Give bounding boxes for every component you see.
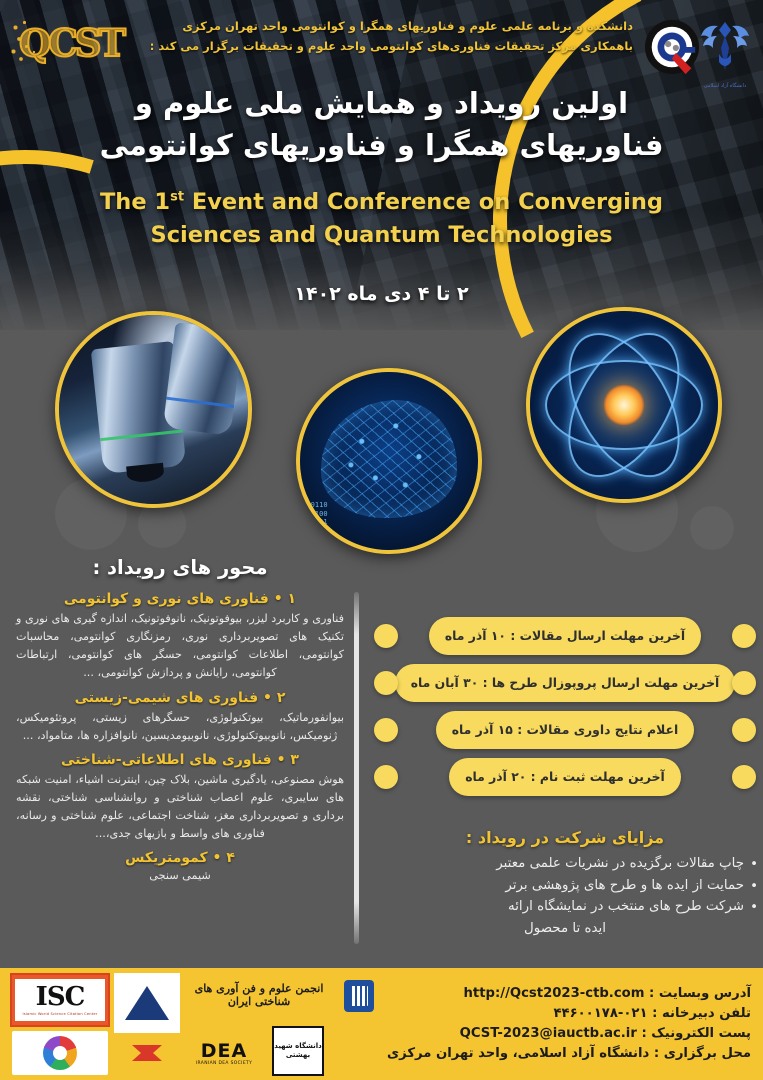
dot-left-icon	[374, 624, 398, 648]
title-en-rest: Event and Conference on Converging	[192, 189, 663, 215]
bullet-icon: •	[750, 854, 758, 876]
dot-right-icon	[732, 718, 756, 742]
title-en-the-first: The 1	[100, 189, 170, 215]
topic-item: ۱ • فناوری های نوری و کوانتومی فناوری و …	[8, 591, 352, 683]
host-statement: دانشکده و برنامه علمی علوم و فناوریهای ه…	[133, 16, 633, 56]
bullet-icon: •	[750, 897, 758, 919]
host-line-2: باهمکاری مرکز تحقیقات فناوری‌های کوانتوم…	[133, 36, 633, 56]
lightning-bolt-icon	[132, 1045, 162, 1061]
society-name: انجمن علوم و فن آوری های شناختی ایران	[186, 982, 332, 1008]
power-research-logo	[118, 1031, 176, 1075]
pixel-dots-icon	[10, 20, 50, 66]
host-line-1: دانشکده و برنامه علمی علوم و فناوریهای ه…	[133, 16, 633, 36]
topic-label: فناوری های اطلاعاتی-شناختی	[61, 752, 272, 768]
photo-circuit-brain: 0110 0100 1001 1001	[296, 368, 482, 554]
benefit-text: چاپ مقالات برگزیده در نشریات علمی معتبر	[496, 856, 744, 871]
benefit-item: • شرکت طرح های منتخب در نمایشگاه ارائه	[372, 896, 758, 918]
isc-logo-text: ISC	[36, 984, 85, 1010]
conference-title-en: The 1st Event and Conference on Convergi…	[0, 186, 763, 251]
ordinal-suffix: st	[170, 190, 184, 205]
triangle-icon	[125, 986, 169, 1020]
topics-section: محور های رویداد : ۱ • فناوری های نوری و …	[8, 556, 352, 889]
benefits-heading: مزایای شرکت در رویداد :	[372, 828, 758, 847]
topic-body: هوش مصنوعی، یادگیری ماشین، بلاک چین، این…	[8, 771, 352, 844]
lens-green-ring	[100, 430, 183, 442]
topic-label: کمومتریکس	[125, 850, 208, 866]
dot-right-icon	[732, 765, 756, 789]
qcst-logo: QCST	[10, 12, 132, 74]
lens-blue-ring	[166, 397, 234, 408]
email-line: پست الکترونیک : QCST-2023@iauctb.ac.ir	[336, 1024, 751, 1044]
deadline-pill: آخرین مهلت ارسال مقالات : ۱۰ آذر ماه	[429, 617, 701, 655]
atom-nucleus	[603, 384, 645, 426]
bullet-icon: •	[750, 876, 758, 898]
cognitive-science-logo	[114, 973, 180, 1033]
deadline-pill: آخرین مهلت ارسال پروپوزال طرح ها : ۳۰ آب…	[395, 664, 736, 702]
topic-number: ۳	[290, 752, 299, 768]
decorative-circle	[690, 506, 734, 550]
topic-body: فناوری و کاربرد لیزر، بیوفوتونیک، نانوفو…	[8, 610, 352, 683]
column-divider	[354, 592, 359, 944]
website-value[interactable]: http://Qcst2023-ctb.com	[464, 984, 645, 1004]
dea-logo-text: DEA	[196, 1042, 252, 1061]
contact-info: آدرس وبسایت : http://Qcst2023-ctb.com تل…	[336, 968, 763, 1080]
title-fa-line-1: اولین رویداد و همایش ملی علوم و	[0, 82, 763, 124]
title-fa-line-2: فناوریهای همگرا و فناوریهای کوانتومی	[0, 124, 763, 166]
microscope-image	[59, 315, 248, 504]
venue-line: محل برگزاری : دانشگاه آزاد اسلامی، واحد …	[336, 1044, 751, 1064]
benefit-item: • چاپ مقالات برگزیده در نشریات علمی معتب…	[372, 853, 758, 875]
topic-title: ۱ • فناوری های نوری و کوانتومی	[8, 591, 352, 607]
azad-wings-icon	[699, 14, 751, 78]
conference-poster: QCST دانشکده و برنامه علمی علوم و فناوری…	[0, 0, 763, 1080]
topic-number: ۴	[226, 850, 235, 866]
deadline-pill: آخرین مهلت ثبت نام : ۲۰ آذر ماه	[449, 758, 681, 796]
event-date: ۲ تا ۴ دی ماه ۱۴۰۲	[0, 283, 763, 305]
dot-right-icon	[732, 671, 756, 695]
footer-bar: ISC Islamic World Science Citation Cente…	[0, 968, 763, 1080]
objective-lens-b	[162, 323, 242, 436]
topic-item: ۴ • کمومتریکس شیمی سنجی	[8, 850, 352, 882]
website-label: آدرس وبسایت :	[649, 986, 751, 1001]
dea-logo-subtitle: IRANIAN DEA SOCIETY	[196, 1061, 252, 1066]
topic-item: ۳ • فناوری های اطلاعاتی-شناختی هوش مصنوع…	[8, 752, 352, 844]
topics-heading: محور های رویداد :	[8, 556, 352, 579]
topic-body: بیوانفورماتیک، بیوتکنولوژی، حسگرهای زیست…	[8, 709, 352, 745]
topic-number: ۱	[288, 591, 297, 607]
email-value[interactable]: QCST-2023@iauctb.ac.ir	[460, 1024, 637, 1044]
phone-label: تلفن دبیرخانه :	[652, 1006, 751, 1021]
research-institute-logo	[12, 1031, 108, 1075]
benefit-text: شرکت طرح های منتخب در نمایشگاه ارائه	[508, 899, 744, 914]
email-label: پست الکترونیک :	[641, 1026, 751, 1041]
book-pages-icon	[350, 986, 368, 1006]
circuit-brain-image: 0110 0100 1001 1001	[300, 372, 478, 550]
topic-item: ۲ • فناوری های شیمی-زیستی بیوانفورماتیک،…	[8, 690, 352, 745]
benefit-text: حمایت از ایده ها و طرح های پژوهشی برتر	[505, 878, 744, 893]
phone-line: تلفن دبیرخانه : ۰۲۱-۴۴۶۰۰۱۷۸	[336, 1004, 751, 1024]
dot-right-icon	[732, 624, 756, 648]
website-line: آدرس وبسایت : http://Qcst2023-ctb.com	[336, 984, 751, 1004]
topic-title: ۲ • فناوری های شیمی-زیستی	[8, 690, 352, 706]
deadline-row: آخرین مهلت ارسال پروپوزال طرح ها : ۳۰ آب…	[372, 659, 758, 706]
colorwheel-icon	[43, 1036, 77, 1070]
dot-left-icon	[374, 718, 398, 742]
title-en-line-1: The 1st Event and Conference on Convergi…	[0, 186, 763, 219]
topic-number: ۲	[277, 690, 286, 706]
dea-logo: DEA IRANIAN DEA SOCIETY	[182, 1034, 266, 1074]
title-en-line-2: Sciences and Quantum Technologies	[0, 219, 763, 252]
photo-microscope	[55, 311, 252, 508]
topic-title: ۴ • کمومتریکس	[8, 850, 352, 866]
topic-body: شیمی سنجی	[8, 869, 352, 882]
conference-title-fa: اولین رویداد و همایش ملی علوم و فناوریها…	[0, 82, 763, 166]
benefit-item: • حمایت از ایده ها و طرح های پژوهشی برتر	[372, 875, 758, 897]
benefit-continuation: ایده تا محصول	[372, 918, 758, 940]
dot-left-icon	[374, 765, 398, 789]
venue-label: محل برگزاری :	[654, 1046, 751, 1061]
sponsor-logos: ISC Islamic World Science Citation Cente…	[0, 968, 336, 1080]
topic-label: فناوری های نوری و کوانتومی	[64, 591, 269, 607]
deadline-row: آخرین مهلت ارسال مقالات : ۱۰ آذر ماه	[372, 612, 758, 659]
photo-atom	[526, 307, 722, 503]
sbu-logo-text: دانشگاه شهید بهشتی	[274, 1042, 322, 1060]
deadlines-section: آخرین مهلت ارسال مقالات : ۱۰ آذر ماه آخر…	[372, 612, 758, 800]
atom-image	[530, 311, 718, 499]
binary-digits: 0110 0100 1001 1001	[311, 501, 328, 536]
shahid-beheshti-logo: دانشگاه شهید بهشتی	[272, 1026, 324, 1076]
topic-label: فناوری های شیمی-زیستی	[75, 690, 259, 706]
isc-logo: ISC Islamic World Science Citation Cente…	[10, 973, 110, 1027]
book-icon	[344, 980, 374, 1012]
dot-left-icon	[374, 671, 398, 695]
isc-logo-inner: ISC Islamic World Science Citation Cente…	[15, 979, 105, 1021]
deadline-row: آخرین مهلت ثبت نام : ۲۰ آذر ماه	[372, 753, 758, 800]
deadline-row: اعلام نتایج داوری مقالات : ۱۵ آذر ماه	[372, 706, 758, 753]
phone-value: ۰۲۱-۴۴۶۰۰۱۷۸	[553, 1006, 647, 1021]
quantum-q-logo-icon	[643, 18, 701, 76]
deadline-pill: اعلام نتایج داوری مقالات : ۱۵ آذر ماه	[436, 711, 695, 749]
lens-tip	[126, 463, 164, 484]
isc-logo-subtitle: Islamic World Science Citation Center	[23, 1012, 98, 1016]
benefits-section: مزایای شرکت در رویداد : • چاپ مقالات برگ…	[372, 828, 758, 940]
topic-title: ۳ • فناوری های اطلاعاتی-شناختی	[8, 752, 352, 768]
venue-value: دانشگاه آزاد اسلامی، واحد تهران مرکزی	[387, 1046, 649, 1061]
